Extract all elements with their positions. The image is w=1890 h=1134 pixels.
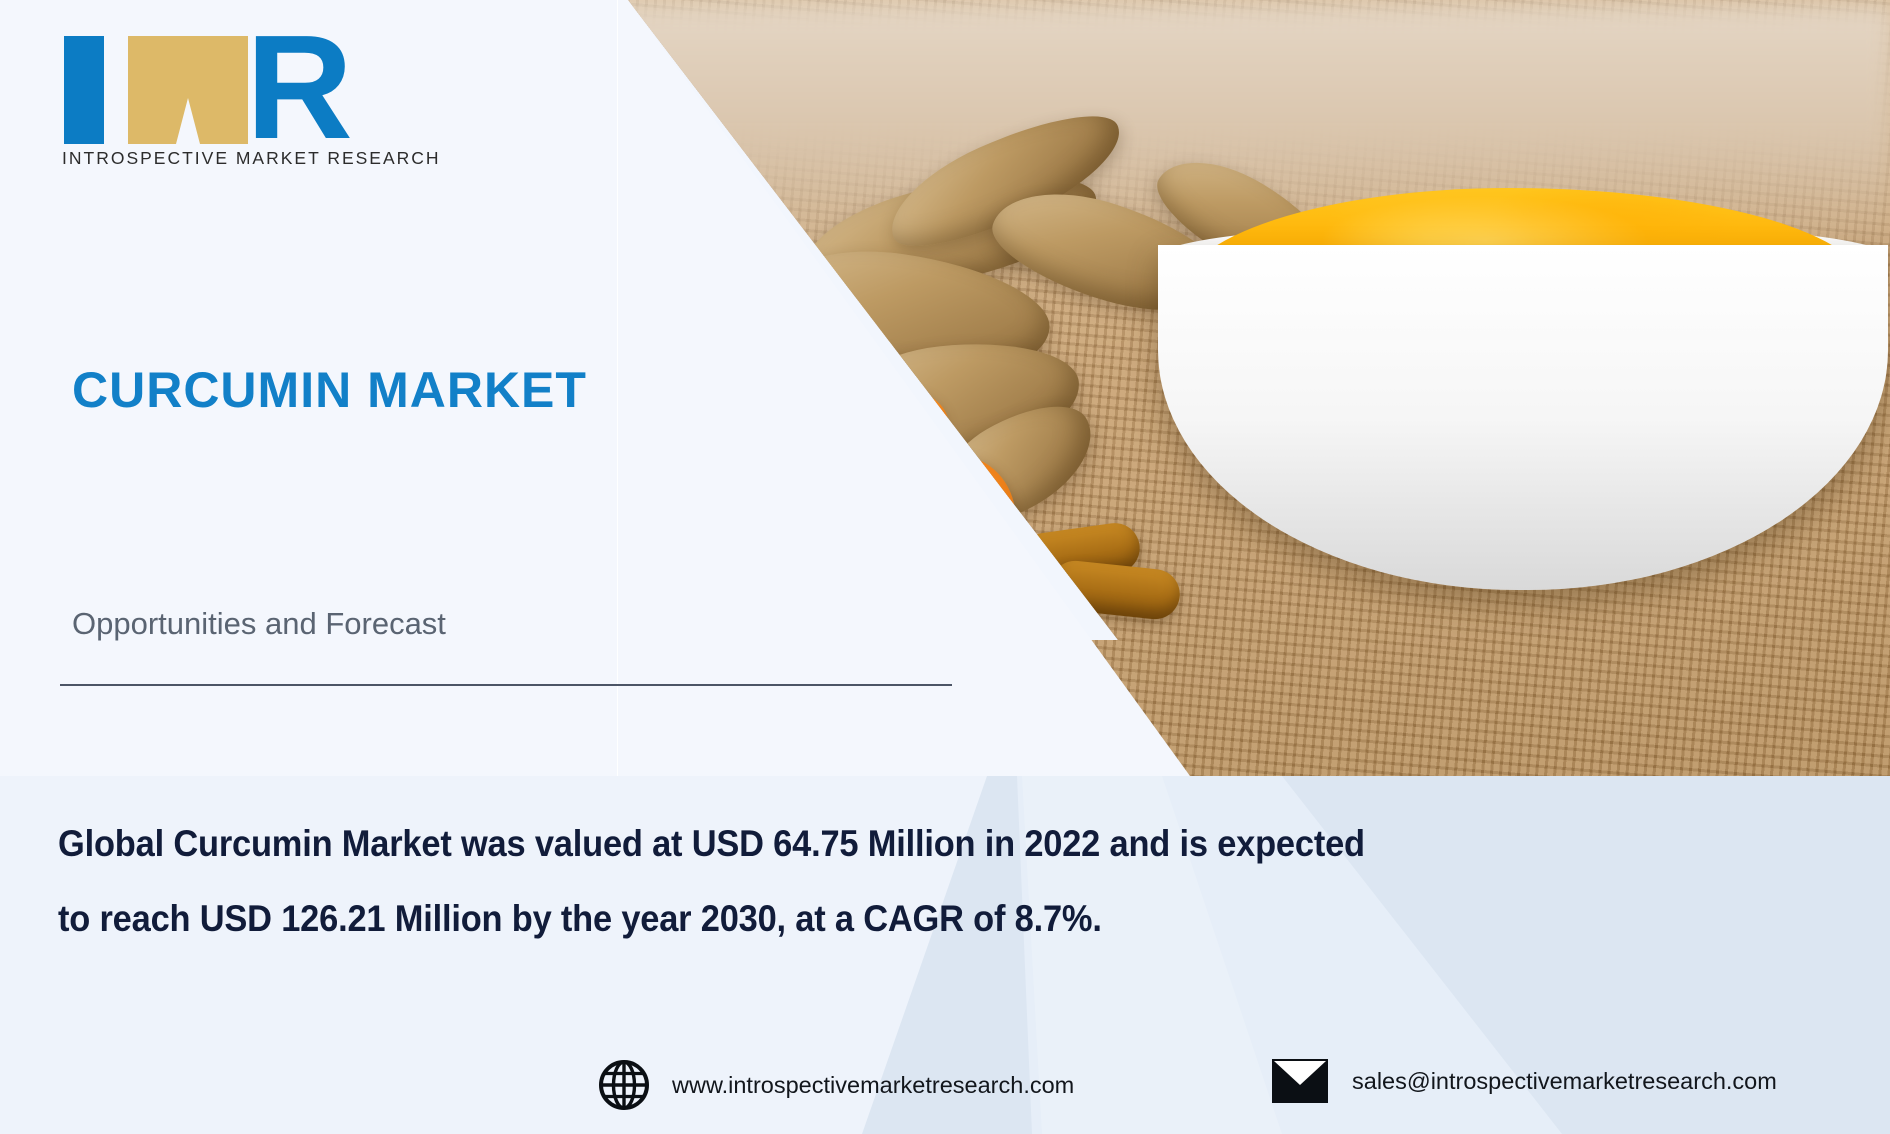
page-subtitle: Opportunities and Forecast [72,606,446,642]
horizontal-divider [60,684,952,686]
report-cover: R INTROSPECTIVE MARKET RESEARCH CURCUMIN… [0,0,1890,1134]
envelope-icon [1272,1059,1328,1103]
footer-email[interactable]: sales@introspectivemarketresearch.com [1272,1059,1777,1103]
company-logo[interactable]: R INTROSPECTIVE MARKET RESEARCH [60,28,380,183]
logo-letter-m-icon [128,36,248,144]
globe-icon [598,1059,650,1111]
website-text: www.introspectivemarketresearch.com [672,1072,1074,1099]
logo-mark: R [60,28,360,146]
logo-letter-r-icon: R [246,36,362,144]
market-statement: Global Curcumin Market was valued at USD… [58,806,1546,956]
market-statement-line-1: Global Curcumin Market was valued at USD… [58,806,1546,881]
market-statement-line-2: to reach USD 126.21 Million by the year … [58,881,1546,956]
page-title: CURCUMIN MARKET [72,361,587,419]
logo-tagline: INTROSPECTIVE MARKET RESEARCH [62,148,441,169]
email-text: sales@introspectivemarketresearch.com [1352,1068,1777,1095]
footer-website[interactable]: www.introspectivemarketresearch.com [598,1059,1074,1111]
logo-letter-i-icon [64,36,104,144]
panel-accent-line [617,0,618,776]
